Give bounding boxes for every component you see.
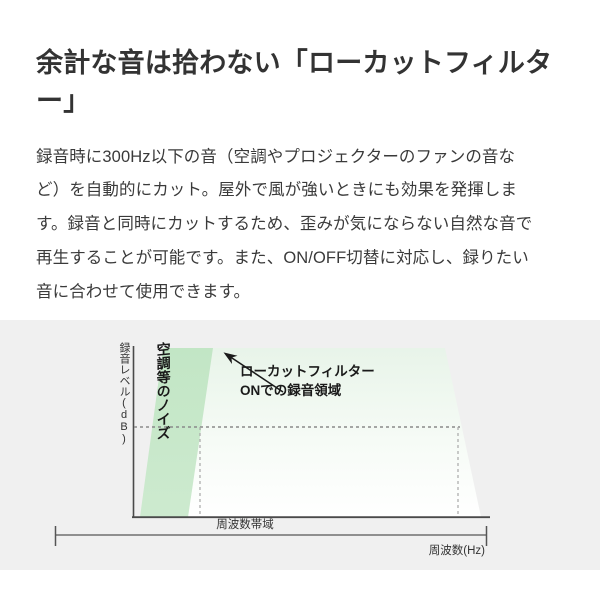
callout-line-1: ローカットフィルター — [240, 362, 375, 381]
diagram-panel: 録音レベル(dB) 空調等のノイズ ローカットフィルター ONでの録音領域 周波… — [0, 320, 600, 570]
y-axis-label: 録音レベル(dB) — [96, 342, 130, 445]
diagram-figure: 録音レベル(dB) 空調等のノイズ ローカットフィルター ONでの録音領域 周波… — [0, 320, 600, 570]
page-title: 余計な音は拾わない「ローカットフィルター」 — [36, 44, 566, 121]
page-root: 余計な音は拾わない「ローカットフィルター」 録音時に300Hz以下の音（空調やプ… — [0, 0, 600, 600]
description-paragraph: 録音時に300Hz以下の音（空調やプロジェクターのファンの音など）を自動的にカッ… — [36, 141, 536, 310]
noise-band-label: 空調等のノイズ — [155, 341, 171, 440]
callout-line-2: ONでの録音領域 — [240, 381, 375, 400]
low-cut-filter-chart — [0, 320, 600, 570]
recording-region-callout: ローカットフィルター ONでの録音領域 — [240, 362, 375, 400]
x-axis-unit-label: 周波数(Hz) — [330, 542, 485, 558]
frequency-band-label-wrap: 周波数帯域 — [0, 516, 490, 532]
frequency-band-label: 周波数帯域 — [216, 516, 274, 532]
